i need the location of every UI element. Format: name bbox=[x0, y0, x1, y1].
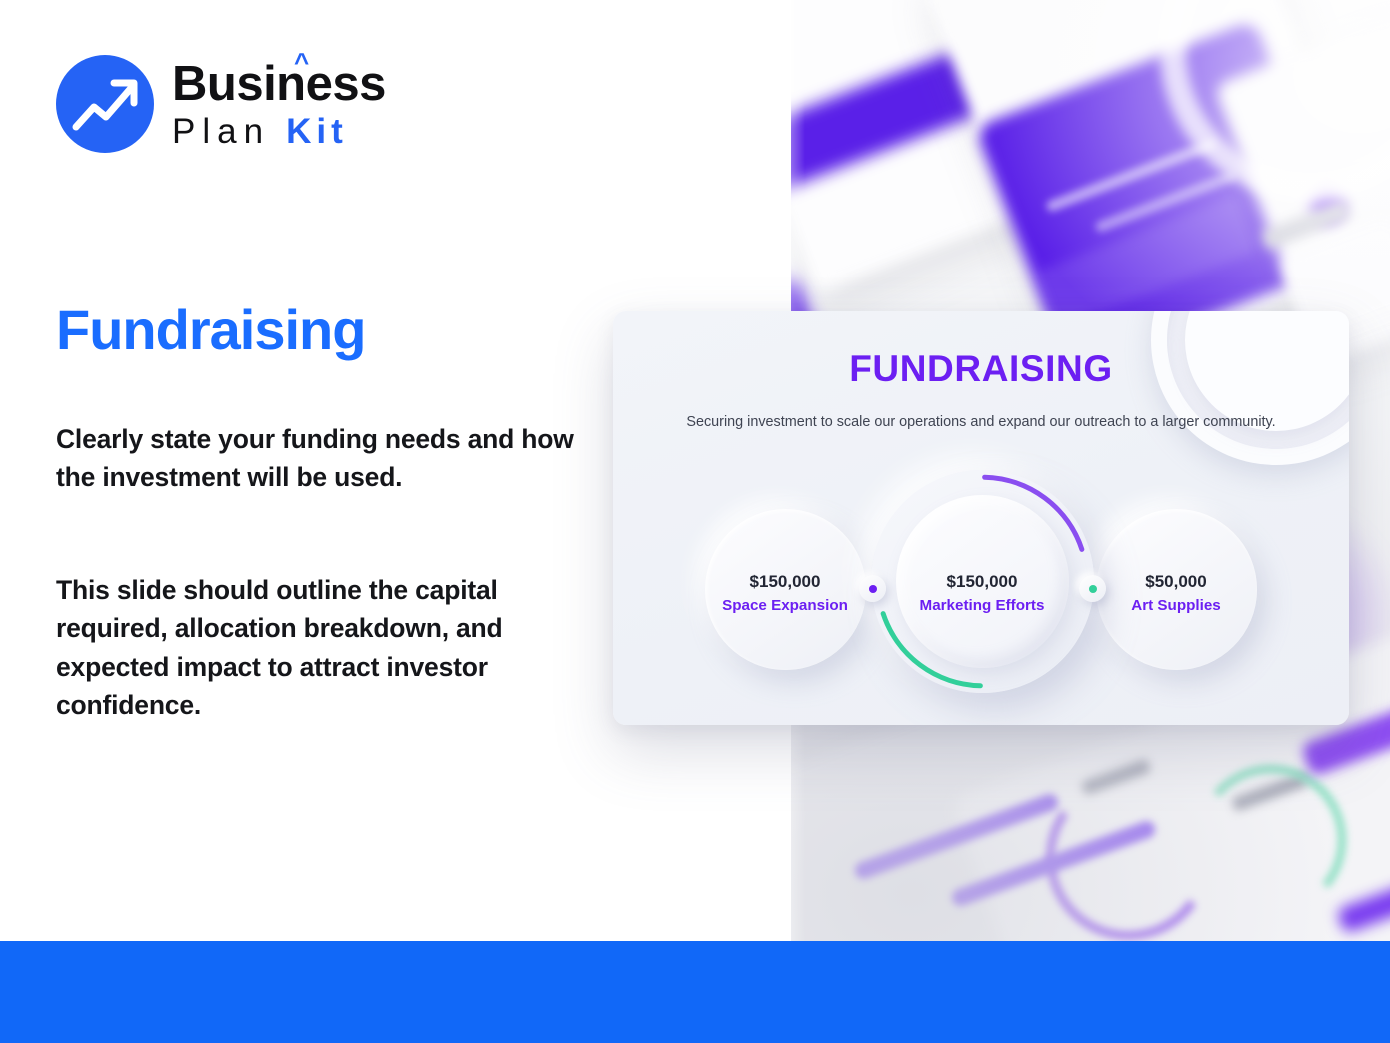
funding-category: Marketing Efforts bbox=[872, 596, 1092, 616]
brand-wordmark: Business ^ Plan Kit bbox=[172, 60, 386, 149]
page-title: Fundraising bbox=[56, 297, 365, 362]
funding-amount: $150,000 bbox=[675, 571, 895, 593]
brand-line-plankit: Plan Kit bbox=[172, 114, 386, 149]
brand-plan-text: Plan bbox=[172, 114, 270, 149]
funding-category: Art Supplies bbox=[1066, 596, 1286, 616]
caret-accent-icon: ^ bbox=[294, 49, 309, 75]
brand-line-business: Business ^ bbox=[172, 60, 386, 109]
left-content-column: Business ^ Plan Kit Fundraising Clearly … bbox=[0, 0, 640, 941]
slide-title: FUNDRAISING bbox=[613, 348, 1349, 390]
slide-preview-card[interactable]: FUNDRAISING Securing investment to scale… bbox=[613, 311, 1349, 725]
growth-arrow-circle-icon bbox=[56, 55, 154, 153]
funding-label-art-supplies: $50,000 Art Supplies bbox=[1066, 571, 1286, 617]
funding-amount: $50,000 bbox=[1066, 571, 1286, 593]
brand-business-text: Business bbox=[172, 57, 386, 111]
funding-amount: $150,000 bbox=[872, 571, 1092, 593]
footer-bar bbox=[0, 941, 1390, 1043]
funding-label-space-expansion: $150,000 Space Expansion bbox=[675, 571, 895, 617]
intro-paragraph: Clearly state your funding needs and how… bbox=[56, 420, 586, 497]
funding-category: Space Expansion bbox=[675, 596, 895, 616]
slide-subtitle: Securing investment to scale our operati… bbox=[613, 412, 1349, 434]
brand-kit-text: Kit bbox=[286, 114, 348, 149]
funding-circles-group: $150,000 Space Expansion $150,000 Market… bbox=[613, 494, 1349, 725]
brand-logo: Business ^ Plan Kit bbox=[56, 55, 386, 153]
detail-paragraph: This slide should outline the capital re… bbox=[56, 571, 586, 725]
funding-label-marketing-efforts: $150,000 Marketing Efforts bbox=[872, 571, 1092, 617]
